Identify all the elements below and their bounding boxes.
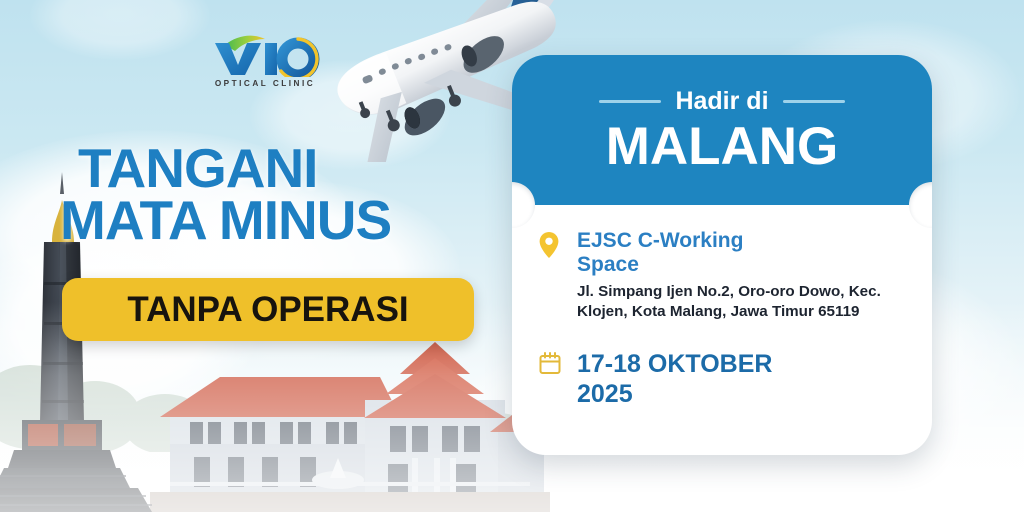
card-body: EJSC C-Working Space Jl. Simpang Ijen No… — [512, 205, 932, 409]
city-name: MALANG — [606, 120, 839, 173]
card-header: Hadir di MALANG — [512, 55, 932, 205]
eyebrow-row: Hadir di — [599, 87, 844, 116]
venue-address: Jl. Simpang Ijen No.2, Oro-oro Dowo, Kec… — [577, 282, 897, 322]
tanpa-operasi-badge: TANPA OPERASI — [62, 278, 474, 341]
venue-name: EJSC C-Working Space — [577, 229, 759, 276]
vio-logo: OPTICAL CLINIC — [205, 33, 325, 95]
vio-logo-tagline: OPTICAL CLINIC — [205, 79, 325, 88]
cloud-shape — [30, 0, 210, 60]
venue-text-block: EJSC C-Working Space Jl. Simpang Ijen No… — [577, 229, 897, 322]
badge-label: TANPA OPERASI — [127, 290, 408, 330]
headline-block: TANGANI MATA MINUS — [78, 143, 498, 246]
vio-logo-mark — [209, 33, 321, 77]
rule-right-icon — [783, 100, 845, 103]
eyebrow-label: Hadir di — [675, 87, 768, 116]
event-info-card: Hadir di MALANG EJSC C-Working Space Jl.… — [512, 55, 932, 455]
calendar-icon — [538, 349, 564, 376]
venue-row: EJSC C-Working Space Jl. Simpang Ijen No… — [538, 229, 904, 322]
rule-left-icon — [599, 100, 661, 103]
event-date: 17-18 OKTOBER 2025 — [577, 349, 807, 409]
location-pin-icon — [538, 229, 564, 259]
date-row: 17-18 OKTOBER 2025 — [538, 349, 904, 409]
headline-line-1: TANGANI — [78, 143, 498, 195]
promotional-banner: OPTICAL CLINIC TANGANI MATA MINUS TANPA … — [0, 0, 1024, 512]
headline-line-2: MATA MINUS — [60, 195, 498, 247]
